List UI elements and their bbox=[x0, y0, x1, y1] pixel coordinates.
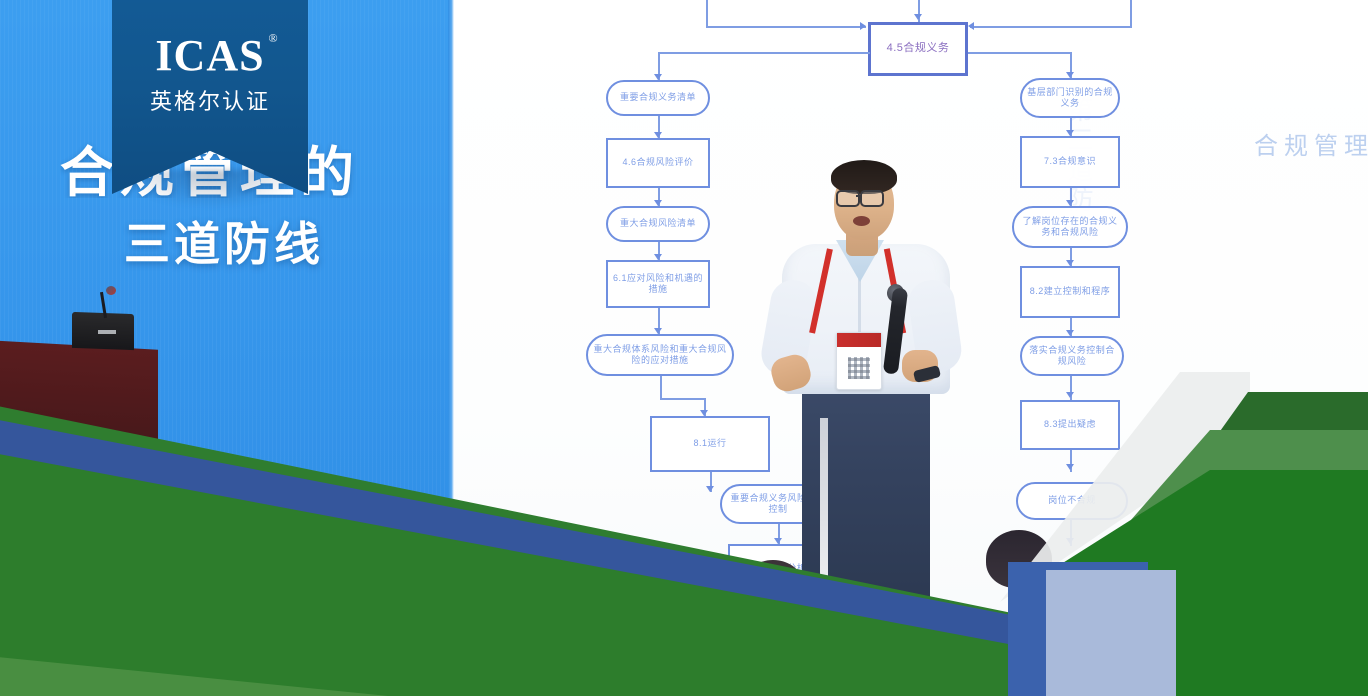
flow-arrow-into-45-left bbox=[860, 22, 866, 30]
flow-node-major-risk-list: 重大合规风险清单 bbox=[606, 206, 710, 242]
flow-arrow-r7 bbox=[1066, 538, 1074, 544]
flow-arrow-r5 bbox=[1066, 392, 1074, 398]
eyeglasses-right-lens-icon bbox=[860, 190, 884, 207]
flow-node-implement-controls: 落实合规义务控制合规风险 bbox=[1020, 336, 1124, 376]
flow-node-operation: 8.1运行 bbox=[650, 416, 770, 472]
speaker-mouth bbox=[853, 216, 870, 226]
audience-head bbox=[742, 560, 804, 612]
flow-node-risk-evaluation: 4.6合规风险评价 bbox=[606, 138, 710, 188]
flow-arrow-r6 bbox=[1066, 464, 1074, 470]
icas-wordmark: ICAS® bbox=[155, 34, 264, 78]
qr-code-icon bbox=[848, 357, 870, 379]
flow-node-raise-concern: 8.3提出疑虑 bbox=[1020, 400, 1120, 450]
podium-nameplate bbox=[98, 330, 116, 334]
flow-node-controls-procedures: 8.2建立控制和程序 bbox=[1020, 266, 1120, 318]
flow-node-risk-measures: 6.1应对风险和机遇的措施 bbox=[606, 260, 710, 308]
speaker-hair bbox=[831, 160, 897, 194]
presentation-photo-stage: 合规管理的 三道防线 ICAS® 英格尔认证 第三道防线 合规管理的三道防线 4… bbox=[0, 0, 1368, 696]
audience-head bbox=[610, 540, 682, 596]
flow-link-top-left-in bbox=[706, 26, 866, 28]
flow-node-system-risk-measures: 重大合规体系风险和重大合规风险的应对措施 bbox=[586, 334, 734, 376]
flow-node-important-obligations-list: 重要合规义务清单 bbox=[606, 80, 710, 116]
speaker bbox=[760, 160, 990, 620]
podium-microphone-head-icon bbox=[106, 286, 116, 295]
flow-node-awareness: 7.3合规意识 bbox=[1020, 136, 1120, 188]
flow-link-top-right-down bbox=[1130, 0, 1132, 27]
badge-header-band bbox=[837, 333, 881, 347]
wall-title-line-2: 三道防线 bbox=[124, 208, 444, 268]
flow-node-understand-obligations: 了解岗位存在的合规义务和合规风险 bbox=[1012, 206, 1128, 248]
flow-link-45-to-left-col bbox=[658, 52, 870, 54]
flow-link-l5-h bbox=[660, 398, 706, 400]
icas-subtitle: 英格尔认证 bbox=[150, 84, 270, 116]
flow-arrow-into-45-right bbox=[968, 22, 974, 30]
flow-node-position-noncompliance: 岗位不合规 bbox=[1016, 482, 1128, 520]
flow-arrow-top-center bbox=[914, 14, 922, 20]
flow-arrow-l6 bbox=[706, 486, 714, 492]
eyeglasses-bridge-icon bbox=[856, 195, 862, 197]
slide-heading: 合规管理的三道防线 bbox=[1254, 126, 1368, 161]
podium bbox=[0, 340, 158, 454]
speaker-leg-gap bbox=[820, 418, 828, 618]
flow-link-45-to-right-col bbox=[968, 52, 1072, 54]
registered-trademark-icon: ® bbox=[268, 32, 278, 44]
flow-node-compliance-obligations: 4.5合规义务 bbox=[868, 22, 968, 76]
audience-head bbox=[986, 530, 1052, 588]
flow-link-l5 bbox=[660, 376, 662, 400]
flow-link-top-left-down bbox=[706, 0, 708, 27]
flow-node-dept-identified-obligations: 基层部门识别的合规义务 bbox=[1020, 78, 1120, 118]
speaker-badge bbox=[836, 332, 882, 390]
flow-link-top-right-in bbox=[970, 26, 1132, 28]
eyeglasses-left-lens-icon bbox=[836, 190, 860, 207]
